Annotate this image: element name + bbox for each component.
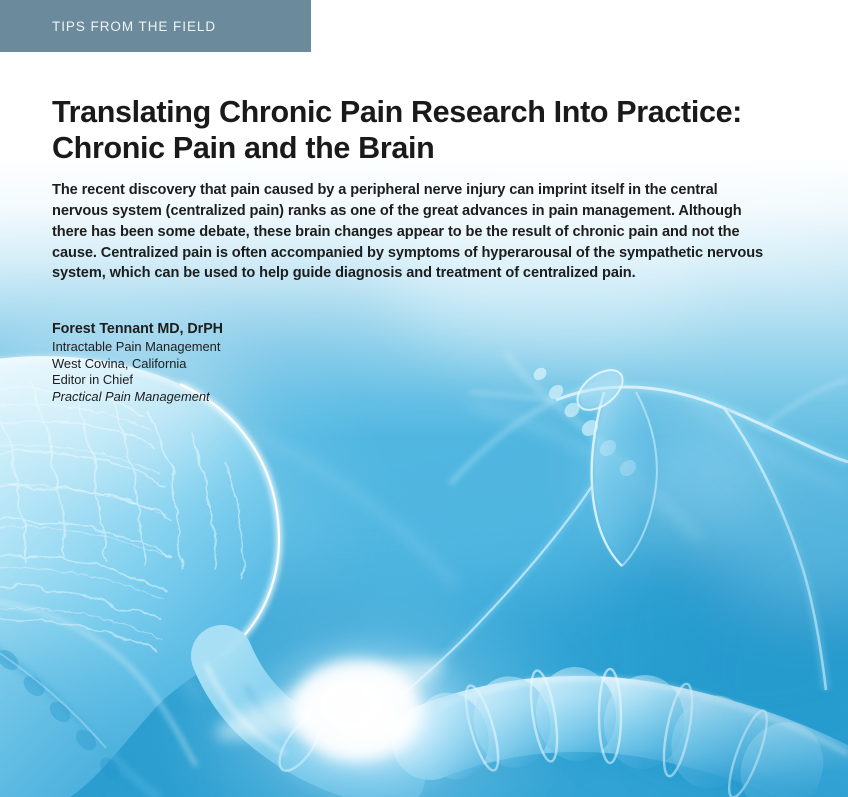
- article-page: TIPS FROM THE FIELD Translating Chronic …: [0, 0, 848, 797]
- author-location: West Covina, California: [52, 356, 792, 373]
- author-journal: Practical Pain Management: [52, 389, 792, 406]
- author-byline: Forest Tennant MD, DrPH Intractable Pain…: [52, 320, 792, 405]
- section-kicker-label: TIPS FROM THE FIELD: [52, 19, 216, 34]
- author-role: Editor in Chief: [52, 372, 792, 389]
- page-title-line-2: Chronic Pain and the Brain: [52, 131, 792, 167]
- author-affiliation: Intractable Pain Management: [52, 339, 792, 356]
- article-abstract: The recent discovery that pain caused by…: [52, 180, 772, 284]
- author-name: Forest Tennant MD, DrPH: [52, 320, 792, 338]
- section-kicker-bar: TIPS FROM THE FIELD: [0, 0, 311, 52]
- page-title: Translating Chronic Pain Research Into P…: [52, 95, 792, 166]
- article-content: Translating Chronic Pain Research Into P…: [52, 95, 792, 405]
- page-title-line-1: Translating Chronic Pain Research Into P…: [52, 95, 792, 131]
